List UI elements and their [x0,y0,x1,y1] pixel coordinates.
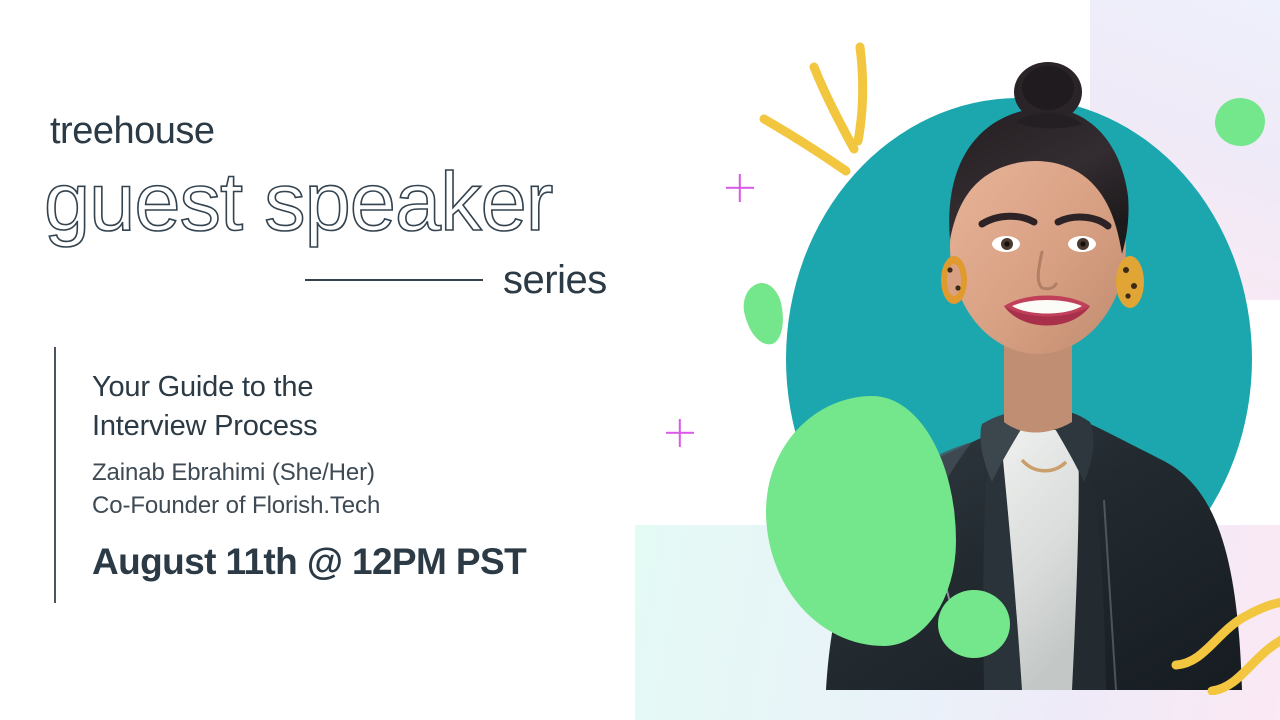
green-blob-small-icon [739,280,789,349]
info-vertical-divider [54,347,56,603]
series-label: series [503,260,607,300]
series-divider [305,279,483,281]
headline-outline-text: guest speaker [44,160,552,243]
series-row: series [305,254,625,306]
yellow-burst-icon [748,35,888,185]
speaker-role: Co-Founder of Florish.Tech [92,490,612,523]
speaker-name: Zainab Ebrahimi (She/Her) [92,457,612,490]
magenta-plus-lower-icon [666,419,694,447]
yellow-wave-icon [1170,585,1280,695]
event-datetime: August 11th @ 12PM PST [92,542,612,583]
talk-title-line-2: Interview Process [92,407,612,446]
magenta-plus-upper-icon [726,174,754,202]
talk-title: Your Guide to the Interview Process [92,368,612,445]
event-info-block: Your Guide to the Interview Process Zain… [92,368,612,583]
talk-title-line-1: Your Guide to the [92,368,612,407]
brand-wordmark: treehouse [50,110,215,153]
green-blob-bottom-icon [938,590,1010,658]
slide-canvas: treehouse guest speaker series Your Guid… [0,0,1280,720]
